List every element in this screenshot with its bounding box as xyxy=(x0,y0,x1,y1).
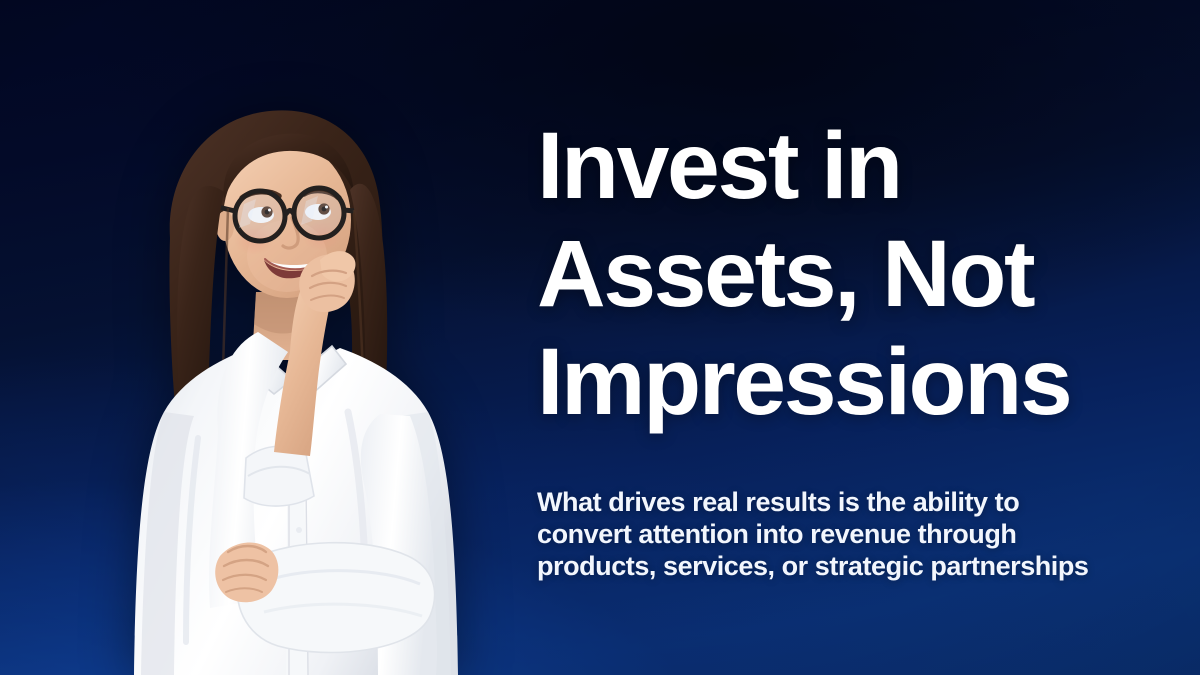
page-title: Invest in Assets, Not Impressions xyxy=(537,112,1157,436)
hero-slide: Invest in Assets, Not Impressions What d… xyxy=(0,0,1200,675)
subject-photo-woman-thinking xyxy=(78,60,508,675)
copy-block: Invest in Assets, Not Impressions What d… xyxy=(537,112,1157,582)
subtitle-text: What drives real results is the ability … xyxy=(537,486,1157,582)
